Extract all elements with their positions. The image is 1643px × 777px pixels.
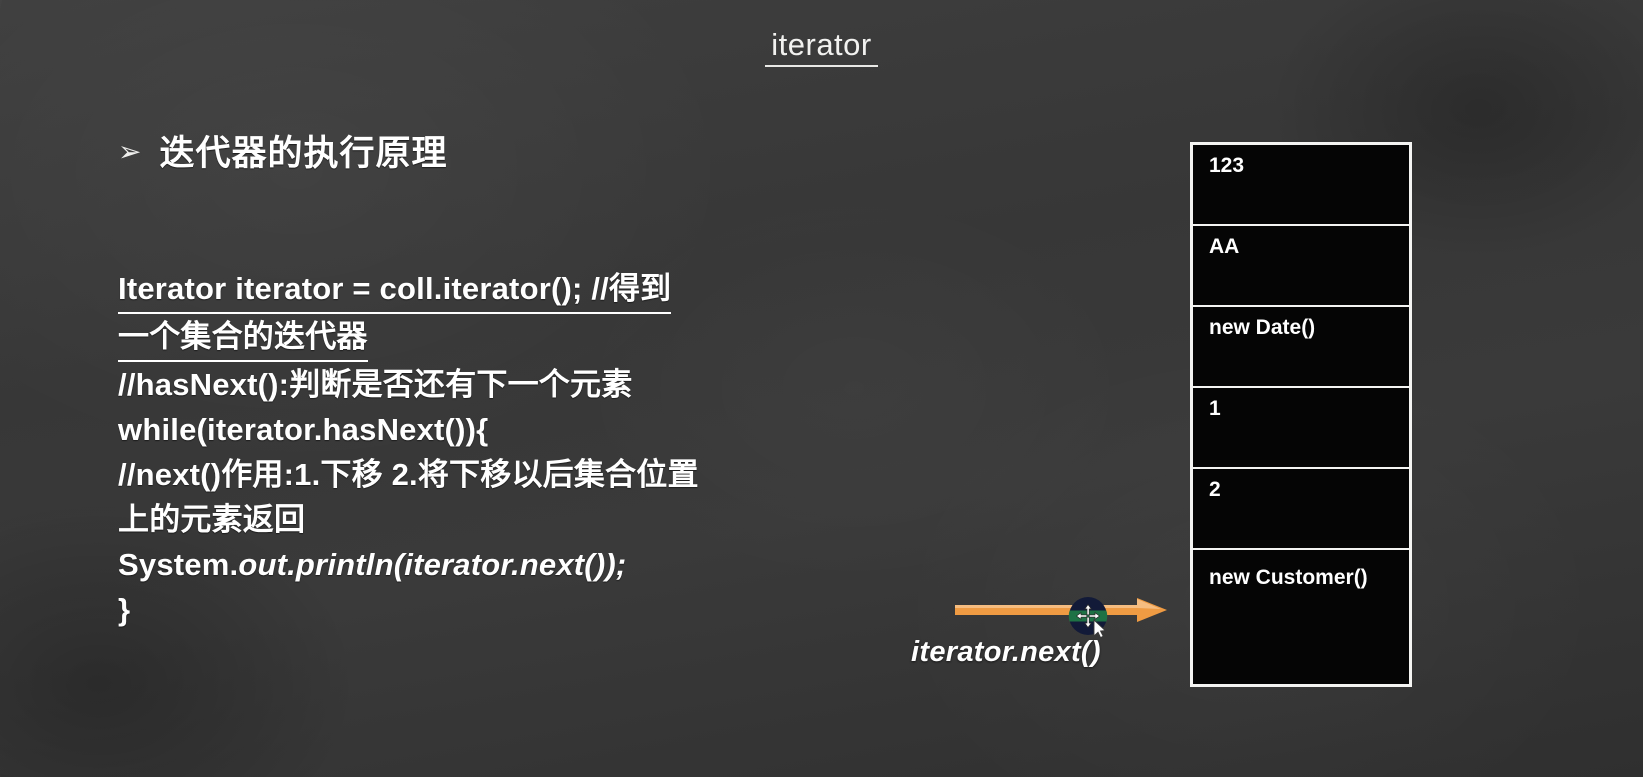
code-line-7-italic: out.println(iterator.next());	[238, 547, 626, 582]
code-line-7-prefix: System.	[118, 547, 238, 582]
table-row: new Date()	[1193, 307, 1409, 388]
code-line-4: while(iterator.hasNext()){	[118, 407, 918, 452]
slide-title: iterator	[0, 27, 1643, 63]
code-line-2: 一个集合的迭代器	[118, 314, 918, 362]
table-row: 123	[1193, 145, 1409, 226]
code-line-8: }	[118, 587, 918, 632]
code-line-2-text: 一个集合的迭代器	[118, 314, 368, 362]
code-line-1-text: Iterator iterator = coll.iterator(); //得…	[118, 266, 671, 314]
annotation-label: iterator.next()	[911, 636, 1101, 669]
slide-canvas: iterator ➢ 迭代器的执行原理 Iterator iterator = …	[0, 0, 1643, 777]
slide-title-text: iterator	[765, 27, 877, 67]
code-line-7: System.out.println(iterator.next());	[118, 542, 918, 587]
bullet-arrow-icon: ➢	[118, 138, 141, 166]
table-row: 1	[1193, 388, 1409, 469]
table-row: new Customer()	[1193, 550, 1409, 684]
table-row: 2	[1193, 469, 1409, 550]
right-arrow-icon	[955, 596, 1170, 624]
table-row: AA	[1193, 226, 1409, 307]
code-line-5: //next()作用:1.下移 2.将下移以后集合位置	[118, 452, 918, 497]
collection-table: 123 AA new Date() 1 2 new Customer()	[1190, 142, 1412, 687]
code-line-3: //hasNext():判断是否还有下一个元素	[118, 362, 918, 407]
section-heading-text: 迭代器的执行原理	[159, 125, 447, 176]
code-block: Iterator iterator = coll.iterator(); //得…	[118, 266, 918, 632]
code-line-6: 上的元素返回	[118, 497, 918, 542]
section-heading: ➢ 迭代器的执行原理	[118, 125, 447, 176]
code-line-1: Iterator iterator = coll.iterator(); //得…	[118, 266, 918, 314]
